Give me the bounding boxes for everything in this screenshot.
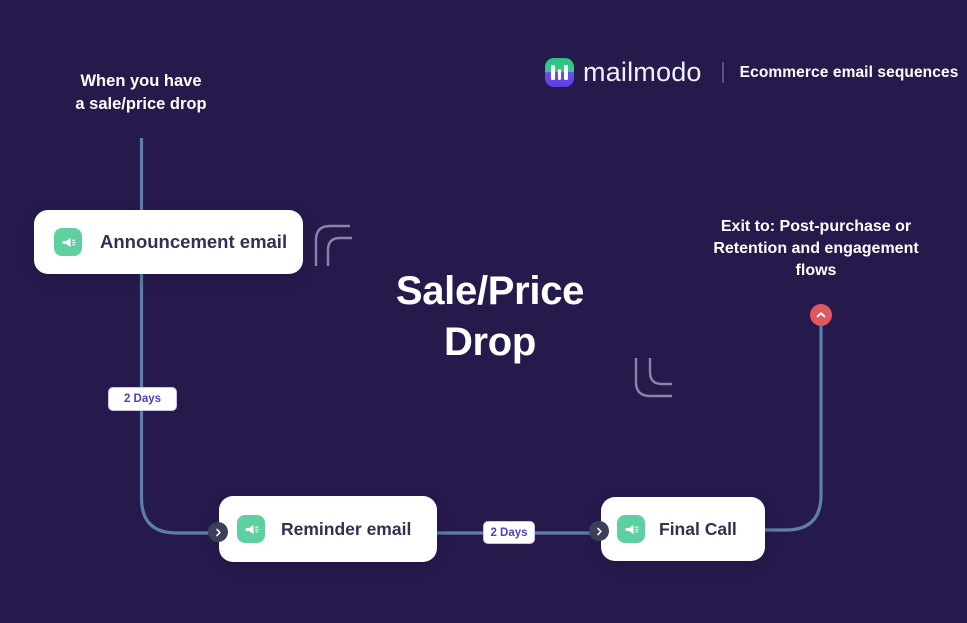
diagram-canvas: mailmodo Ecommerce email sequences When … bbox=[0, 0, 967, 623]
node-final-call[interactable]: Final Call bbox=[601, 497, 765, 561]
node-label: Reminder email bbox=[281, 519, 411, 540]
wire-elbow-to-reminder bbox=[142, 498, 213, 533]
header-subtitle: Ecommerce email sequences bbox=[740, 64, 959, 82]
entry-label-line1: When you have bbox=[55, 70, 227, 93]
exit-label: Exit to: Post-purchase or Retention and … bbox=[700, 216, 932, 282]
brand-header: mailmodo Ecommerce email sequences bbox=[545, 58, 958, 87]
entry-marker-reminder[interactable] bbox=[208, 522, 228, 542]
node-label: Final Call bbox=[659, 519, 737, 540]
node-label: Announcement email bbox=[100, 231, 287, 253]
exit-label-line3: flows bbox=[700, 260, 932, 282]
entry-label: When you have a sale/price drop bbox=[55, 70, 227, 116]
exit-marker[interactable] bbox=[810, 304, 832, 326]
megaphone-icon bbox=[617, 515, 645, 543]
megaphone-icon bbox=[54, 228, 82, 256]
entry-marker-final[interactable] bbox=[589, 521, 609, 541]
page-title: Sale/Price Drop bbox=[330, 266, 650, 368]
chevron-up-circle-icon bbox=[815, 309, 827, 321]
page-title-line2: Drop bbox=[330, 317, 650, 368]
megaphone-icon bbox=[237, 515, 265, 543]
arc-top-left bbox=[316, 226, 352, 266]
header-divider bbox=[722, 62, 724, 83]
chevron-right-icon bbox=[214, 528, 223, 537]
page-title-line1: Sale/Price bbox=[330, 266, 650, 317]
mailmodo-logo-icon bbox=[545, 58, 574, 87]
brand-name: mailmodo bbox=[583, 59, 702, 86]
entry-label-line2: a sale/price drop bbox=[55, 93, 227, 116]
exit-label-line1: Exit to: Post-purchase or bbox=[700, 216, 932, 238]
delay-badge-1[interactable]: 2 Days bbox=[108, 387, 177, 411]
chevron-right-icon bbox=[595, 527, 604, 536]
delay-badge-2[interactable]: 2 Days bbox=[483, 521, 535, 544]
exit-label-line2: Retention and engagement bbox=[700, 238, 932, 260]
node-reminder-email[interactable]: Reminder email bbox=[219, 496, 437, 562]
node-announcement-email[interactable]: Announcement email bbox=[34, 210, 303, 274]
